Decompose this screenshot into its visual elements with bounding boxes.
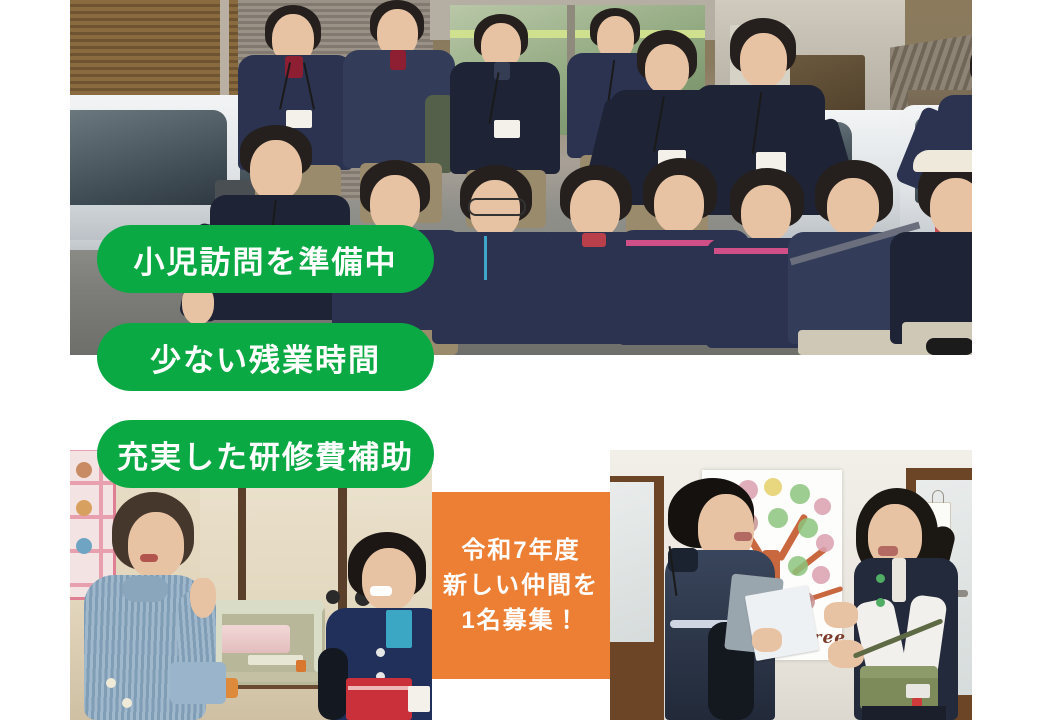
bag-flap — [860, 666, 938, 678]
tapestry-motif — [76, 500, 92, 516]
recruit-line-message: 新しい仲間を — [443, 574, 599, 598]
button — [376, 648, 385, 657]
id-card — [408, 686, 430, 712]
female-hand-upper — [824, 602, 858, 628]
bag-label — [906, 684, 930, 698]
home-visit-photo — [70, 450, 432, 720]
button — [122, 698, 132, 708]
folder-edge — [348, 686, 410, 690]
wish-tree-photo: Wish Tree — [610, 450, 972, 720]
badge-low-overtime: 少ない残業時間 — [97, 323, 434, 391]
badge-label: 少ない残業時間 — [150, 335, 381, 380]
card-hook — [932, 490, 944, 503]
inner-shirt — [892, 558, 906, 602]
wish-leaf — [798, 518, 818, 538]
recruit-line-count: 1名募集！ — [461, 609, 580, 633]
group-photo — [70, 0, 972, 355]
badge-label: 小児訪問を準備中 — [134, 237, 398, 282]
wish-leaf — [814, 498, 831, 515]
car-left-window — [70, 110, 227, 205]
mouth — [140, 554, 158, 562]
male-hand — [752, 628, 782, 652]
wish-leaf — [812, 566, 830, 584]
poster-canvas: Wish Tree — [0, 0, 1040, 720]
bed-label — [248, 655, 303, 665]
badge-pin — [876, 598, 885, 607]
nurse-arm — [318, 648, 348, 720]
mouth — [734, 532, 752, 541]
bed-knob — [296, 660, 306, 672]
mouth — [878, 546, 898, 556]
tapestry-motif — [76, 462, 92, 478]
lap-blanket — [170, 662, 226, 704]
collar-trim — [386, 610, 412, 648]
fusuma-handle-1 — [326, 590, 340, 604]
recruit-line-year: 令和7年度 — [461, 539, 580, 563]
care-bed-mattress — [220, 625, 290, 653]
badge-label: 充実した研修費補助 — [117, 432, 414, 477]
care-bed-rail — [212, 600, 324, 614]
badge-pin — [876, 574, 885, 583]
visor-cap — [913, 150, 972, 172]
tapestry-motif — [76, 538, 92, 554]
wish-leaf — [790, 484, 810, 504]
badge-training-subsidy: 充実した研修費補助 — [97, 420, 434, 488]
badge-pediatric-visit: 小児訪問を準備中 — [97, 225, 434, 293]
wish-leaf — [764, 478, 782, 496]
wish-leaf — [788, 556, 808, 576]
wish-leaf — [816, 534, 834, 552]
red-folder — [346, 678, 412, 720]
turtleneck — [122, 576, 168, 602]
recruit-panel: 令和7年度 新しい仲間を 1名募集！ — [432, 492, 610, 679]
smile — [370, 586, 392, 596]
trousers — [862, 706, 946, 720]
door-left-pane — [610, 482, 654, 642]
pointing-hand — [190, 578, 216, 618]
wish-leaf — [768, 508, 788, 528]
button — [106, 678, 116, 688]
